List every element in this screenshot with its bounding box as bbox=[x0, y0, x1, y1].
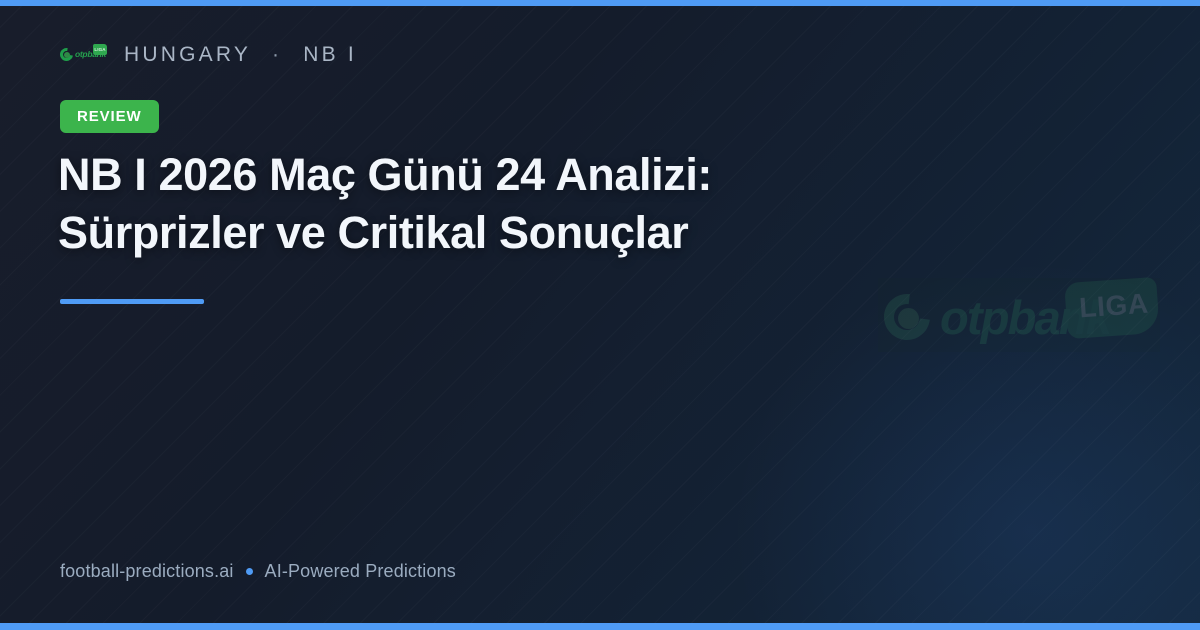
mini-logo-flag-label: LIGA bbox=[93, 44, 107, 55]
footer-tagline: AI-Powered Predictions bbox=[265, 561, 456, 582]
top-accent-bar bbox=[0, 0, 1200, 6]
otpbank-liga-watermark-logo: otpbank LIGA bbox=[878, 278, 1160, 352]
page-title: NB I 2026 Maç Günü 24 Analizi: Sürprizle… bbox=[58, 146, 878, 261]
footer-bullet-icon bbox=[246, 568, 253, 575]
otp-dot-shape bbox=[64, 52, 70, 58]
otp-dot-shape-large bbox=[898, 308, 919, 329]
league-header: otpbank LIGA HUNGARY · NB I bbox=[60, 40, 357, 70]
country-label: HUNGARY bbox=[124, 43, 251, 67]
watermark-flag-label: LIGA bbox=[1073, 287, 1155, 325]
title-divider bbox=[60, 299, 204, 304]
header-separator: · bbox=[269, 43, 285, 67]
status-badge: REVIEW bbox=[60, 100, 159, 133]
league-label: NB I bbox=[303, 43, 357, 67]
bottom-accent-bar bbox=[0, 623, 1200, 630]
share-card: otpbank LIGA HUNGARY · NB I REVIEW NB I … bbox=[0, 0, 1200, 630]
footer: football-predictions.ai AI-Powered Predi… bbox=[60, 561, 456, 582]
watermark-plate: otpbank LIGA bbox=[878, 278, 1160, 352]
otpbank-liga-mini-logo-icon: otpbank LIGA bbox=[60, 44, 106, 66]
footer-site-name: football-predictions.ai bbox=[60, 561, 234, 582]
